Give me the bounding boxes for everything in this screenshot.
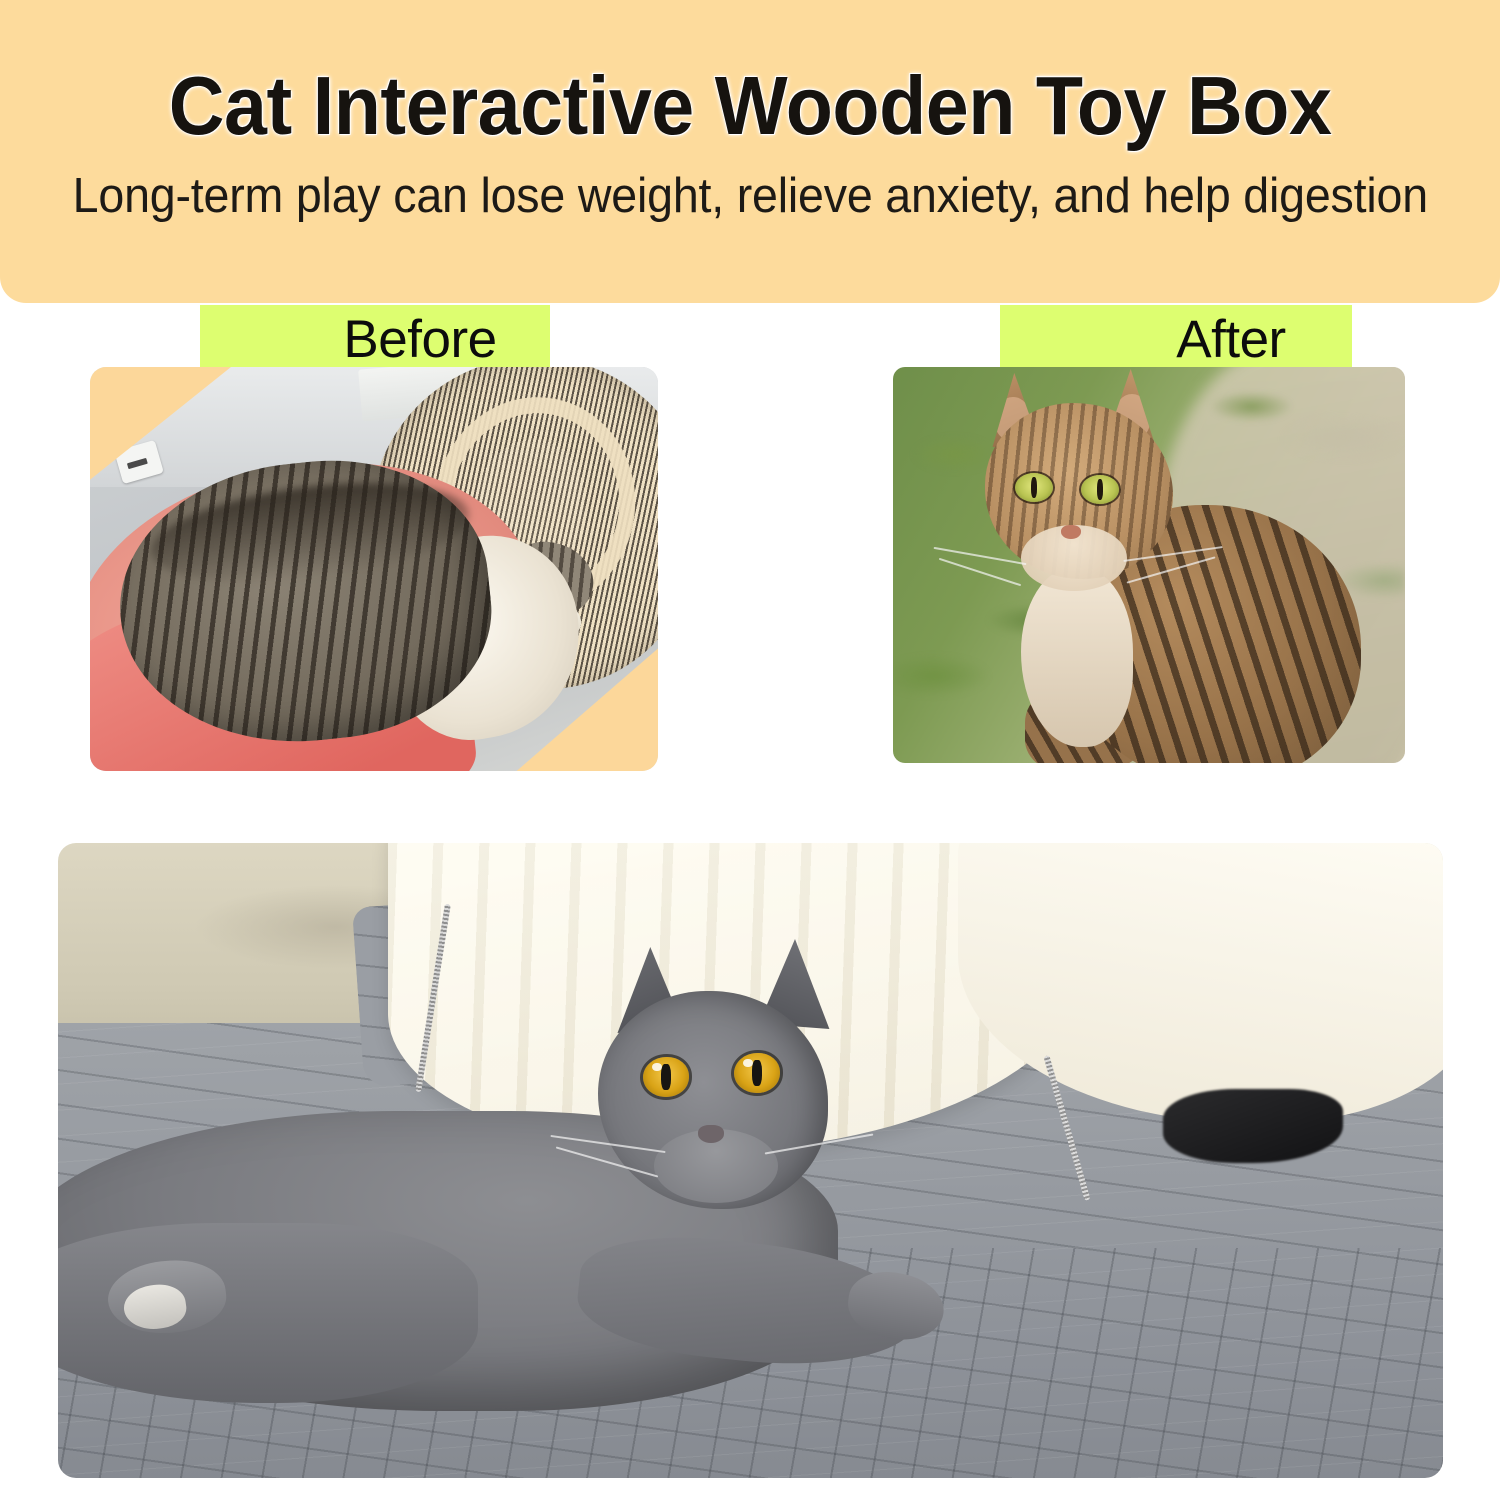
main-photo-scene: [58, 843, 1443, 1478]
before-label: Before: [200, 305, 550, 373]
slim-cat-nose: [1061, 525, 1081, 539]
grey-cat-eye-left: [643, 1057, 689, 1097]
grey-cat-nose: [698, 1125, 724, 1143]
slim-cat-eye-left: [1015, 473, 1053, 502]
page-subtitle: Long-term play can lose weight, relieve …: [72, 172, 1427, 221]
grey-cat-eye-right: [734, 1053, 780, 1093]
main-product-photo: [58, 843, 1443, 1478]
before-photo-scene: [90, 367, 658, 771]
dark-cloth: [1163, 1089, 1343, 1163]
after-photo: [893, 367, 1405, 763]
after-label: After: [1000, 305, 1352, 373]
header-banner: Cat Interactive Wooden Toy Box Long-term…: [0, 0, 1500, 303]
slim-cat-eye-right: [1081, 475, 1119, 504]
page-title: Cat Interactive Wooden Toy Box: [169, 64, 1332, 147]
before-photo: [90, 367, 658, 771]
after-photo-scene: [893, 367, 1405, 763]
